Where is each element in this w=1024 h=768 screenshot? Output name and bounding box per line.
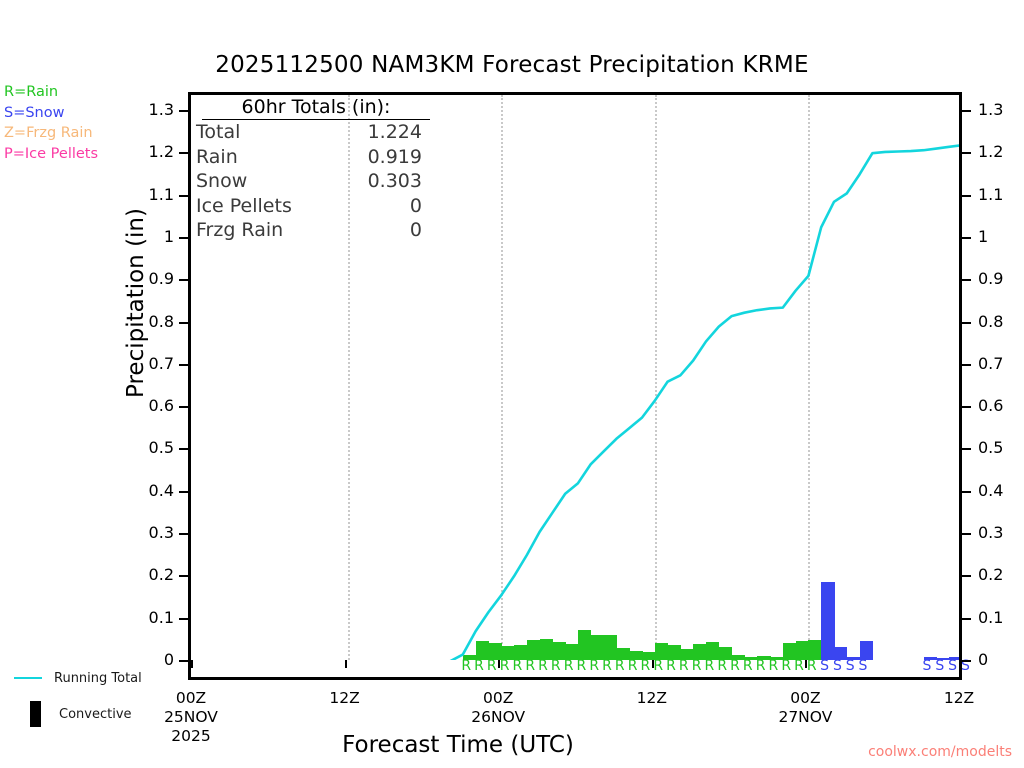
y-axis-label-right: 0.7 [978,354,1003,373]
totals-row-label: Ice Pellets [196,194,292,219]
y-tick-right [962,448,971,450]
y-tick-right [962,660,971,662]
series-legend: Running Total Convective [8,666,142,726]
y-tick-right [962,195,971,197]
y-tick-left [179,406,188,408]
page-title: 2025112500 NAM3KM Forecast Precipitation… [0,52,1024,78]
totals-row-value: 0.919 [368,145,422,170]
y-tick-right [962,533,971,535]
legend-item-convective: Convective [8,702,142,726]
totals-row: Rain0.919 [196,145,448,170]
y-tick-right [962,575,971,577]
y-axis-label-left: 0.6 [122,396,174,415]
y-tick-left [179,364,188,366]
totals-row-value: 1.224 [368,120,422,145]
y-tick-right [962,279,971,281]
y-tick-right [962,406,971,408]
y-axis-label-right: 0 [978,650,988,669]
legend-item-running-total: Running Total [8,666,142,690]
y-tick-right [962,110,971,112]
legend-label-convective: Convective [59,707,132,722]
chart-page: 2025112500 NAM3KM Forecast Precipitation… [0,0,1024,768]
y-axis-label-left: 1.2 [122,142,174,161]
totals-row-value: 0.303 [368,169,422,194]
totals-header: 60hr Totals (in): [202,96,430,120]
x-axis-label: 12Z [909,689,1009,708]
totals-row: Frzg Rain0 [196,218,448,243]
y-tick-right [962,322,971,324]
x-axis-label: 00Z 27NOV [755,689,855,727]
totals-row-value: 0 [410,194,422,219]
totals-box: 60hr Totals (in): Total1.224Rain0.919Sno… [196,96,448,243]
y-tick-left [179,152,188,154]
y-axis-label-left: 1 [122,227,174,246]
totals-row-label: Snow [196,169,247,194]
x-tick [191,660,193,668]
y-axis-label-left: 0.8 [122,312,174,331]
x-tick [652,660,654,668]
x-axis-label: 00Z 25NOV 2025 [141,689,241,746]
bar-swatch-icon [30,701,41,727]
totals-row: Total1.224 [196,120,448,145]
precip-type-legend: R=RainS=SnowZ=Frzg RainP=Ice Pellets [4,82,98,164]
x-tick [498,660,500,668]
y-tick-right [962,491,971,493]
x-axis-label: 12Z [602,689,702,708]
y-axis-label-right: 0.1 [978,608,1003,627]
y-axis-label-right: 0.6 [978,396,1003,415]
y-tick-left [179,575,188,577]
y-axis-label-left: 0.5 [122,438,174,457]
y-tick-left [179,110,188,112]
x-tick [805,660,807,668]
y-axis-label-right: 0.2 [978,565,1003,584]
y-tick-left [179,448,188,450]
y-axis-label-left: 1.1 [122,185,174,204]
line-swatch-icon [14,677,42,679]
y-tick-left [179,195,188,197]
x-tick [345,660,347,668]
precip-type-letter: S [855,659,872,673]
y-tick-left [179,533,188,535]
totals-row: Snow0.303 [196,169,448,194]
y-axis-label-left: 0.2 [122,565,174,584]
y-tick-right [962,237,971,239]
y-axis-label-right: 0.3 [978,523,1003,542]
y-tick-right [962,364,971,366]
y-axis-label-right: 1.3 [978,100,1003,119]
totals-rows: Total1.224Rain0.919Snow0.303Ice Pellets0… [196,120,448,243]
plot-frame-edge [188,660,191,680]
x-axis-line [188,677,962,680]
plot-frame-edge [959,660,962,680]
ptype-legend-item: S=Snow [4,103,98,124]
y-axis-label-left: 0.9 [122,269,174,288]
y-axis-label-right: 1 [978,227,988,246]
legend-label-running-total: Running Total [54,671,142,686]
y-tick-left [179,491,188,493]
y-axis-label-right: 0.9 [978,269,1003,288]
ptype-legend-item: Z=Frzg Rain [4,123,98,144]
y-tick-right [962,618,971,620]
watermark: coolwx.com/modelts [868,744,1012,760]
x-axis-label: 00Z 26NOV [448,689,548,727]
totals-row-label: Rain [196,145,238,170]
y-axis-label-left: 1.3 [122,100,174,119]
totals-row: Ice Pellets0 [196,194,448,219]
y-axis-label-left: 0.4 [122,481,174,500]
ptype-legend-item: R=Rain [4,82,98,103]
totals-row-label: Total [196,120,240,145]
ptype-legend-item: P=Ice Pellets [4,144,98,165]
y-tick-left [179,237,188,239]
y-axis-label-left: 0.1 [122,608,174,627]
totals-row-label: Frzg Rain [196,218,283,243]
y-tick-left [179,279,188,281]
y-axis-label-left: 0.3 [122,523,174,542]
y-axis-label-right: 0.4 [978,481,1003,500]
y-axis-label-right: 0.5 [978,438,1003,457]
y-tick-right [962,152,971,154]
y-axis-label-left: 0.7 [122,354,174,373]
y-tick-left [179,322,188,324]
y-tick-left [179,618,188,620]
y-axis-label-right: 1.1 [978,185,1003,204]
y-axis-label-right: 1.2 [978,142,1003,161]
x-axis-title: Forecast Time (UTC) [188,732,728,758]
precip-type-row: RRRRRRRRRRRRRRRRRRRRRRRRRRRRSSSSSSSS [188,659,962,677]
y-axis-label-right: 0.8 [978,312,1003,331]
totals-row-value: 0 [410,218,422,243]
x-axis-label: 12Z [295,689,395,708]
